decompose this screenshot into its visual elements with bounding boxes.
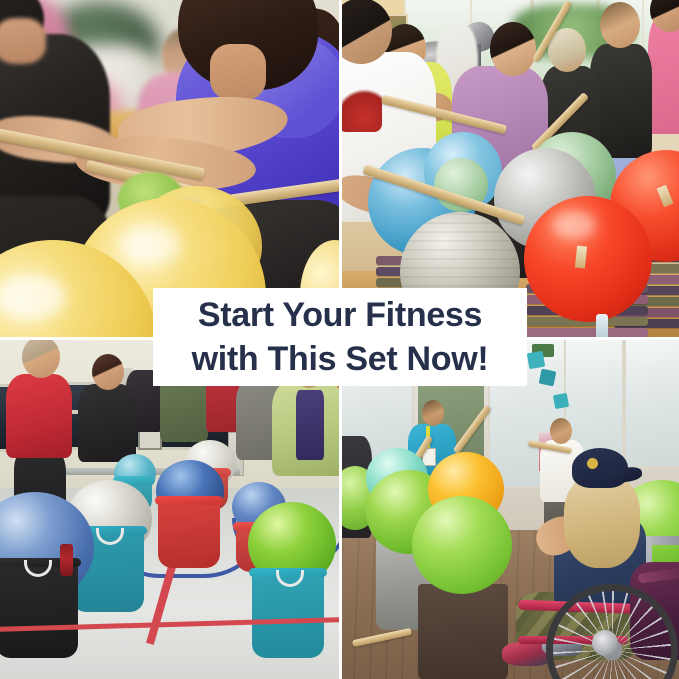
- participant-green-jacket-inner-shirt: [296, 390, 324, 460]
- promotional-collage-image: Start Your Fitness with This Set Now!: [0, 0, 679, 679]
- headline-line-1: Start Your Fitness: [198, 293, 482, 337]
- participant-black-shirt-body: [78, 384, 136, 462]
- bucket: [0, 562, 78, 658]
- participant-black-shirt-head: [92, 354, 124, 390]
- participant-black-shirt-neck: [0, 18, 46, 64]
- photo-cell-bottom-left: [0, 340, 339, 679]
- red-exercise-ball: [524, 196, 652, 322]
- wheelchair-wheel-hub: [592, 630, 618, 656]
- photo-cell-top-left: [0, 0, 339, 337]
- participant-red-shirt-body: [6, 374, 72, 458]
- bucket-handle: [96, 528, 124, 545]
- headline-line-2: with This Set Now!: [192, 337, 489, 381]
- beanie-logo: [587, 458, 598, 469]
- bucket: [252, 572, 324, 658]
- participant-white-shirt-head: [550, 418, 572, 444]
- photo-cell-bottom-right: [342, 340, 679, 679]
- brown-bin: [418, 584, 508, 679]
- green-exercise-ball: [412, 496, 512, 594]
- promo-text-banner: Start Your Fitness with This Set Now!: [153, 288, 527, 386]
- water-bottle: [596, 314, 608, 337]
- bucket-handle: [276, 570, 304, 587]
- participant-tank-top-head: [600, 2, 640, 48]
- wall-sign: [138, 430, 162, 450]
- participant-pink-shirt: [648, 14, 679, 134]
- glass-window: [624, 340, 679, 468]
- bucket: [158, 500, 220, 568]
- foreground-woman-neck: [210, 44, 266, 100]
- wall-decoration: [527, 351, 546, 370]
- water-bottle: [60, 544, 73, 576]
- wall-decoration: [539, 369, 557, 387]
- instructor-head: [422, 400, 444, 426]
- participant-purple-shirt-head: [490, 22, 536, 76]
- tshirt-graphic: [342, 86, 382, 132]
- bucket-handle: [24, 560, 52, 577]
- wall-decoration: [553, 393, 569, 409]
- wheelchair-user-hair: [564, 476, 640, 568]
- photo-cell-top-right: [342, 0, 679, 337]
